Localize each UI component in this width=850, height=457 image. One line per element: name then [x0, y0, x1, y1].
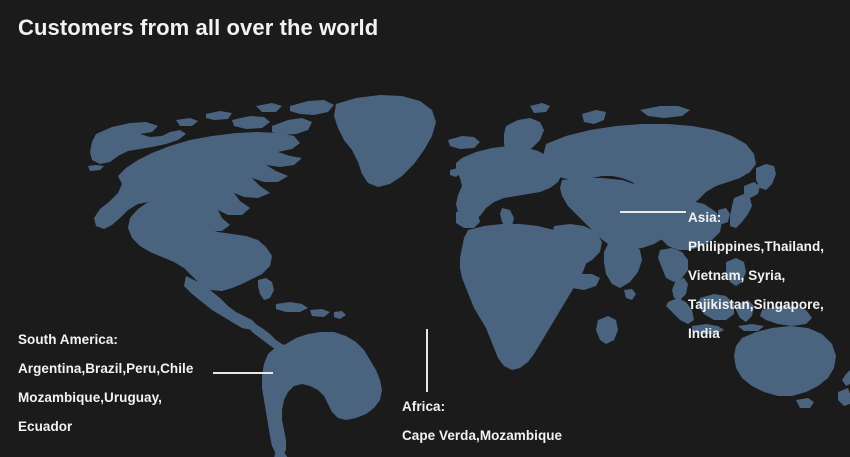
- annotation-south-america-heading: South America:: [18, 325, 193, 354]
- annotation-south-america-line-1: Argentina,Brazil,Peru,Chile: [18, 354, 193, 383]
- annotation-africa-line-1: Cape Verda,Mozambique: [402, 421, 562, 450]
- annotation-south-america-line-2: Mozambique,Uruguay,: [18, 383, 193, 412]
- annotation-asia-line-4: India: [688, 319, 824, 348]
- leader-line-asia: [620, 211, 686, 213]
- annotation-south-america-line-3: Ecuador: [18, 412, 193, 441]
- annotation-africa: Africa: Cape Verda,Mozambique: [402, 392, 562, 450]
- annotation-asia: Asia: Philippines,Thailand, Vietnam, Syr…: [688, 203, 824, 348]
- annotation-asia-line-1: Philippines,Thailand,: [688, 232, 824, 261]
- annotation-asia-line-2: Vietnam, Syria,: [688, 261, 824, 290]
- leader-line-africa: [426, 329, 428, 392]
- annotation-asia-line-3: Tajikistan,Singapore,: [688, 290, 824, 319]
- annotation-africa-heading: Africa:: [402, 392, 562, 421]
- leader-line-south-america: [213, 372, 273, 374]
- page-title: Customers from all over the world: [18, 14, 378, 42]
- annotation-south-america: South America: Argentina,Brazil,Peru,Chi…: [18, 325, 193, 441]
- slide-canvas: Customers from all over the world: [0, 0, 850, 457]
- annotation-asia-heading: Asia:: [688, 203, 824, 232]
